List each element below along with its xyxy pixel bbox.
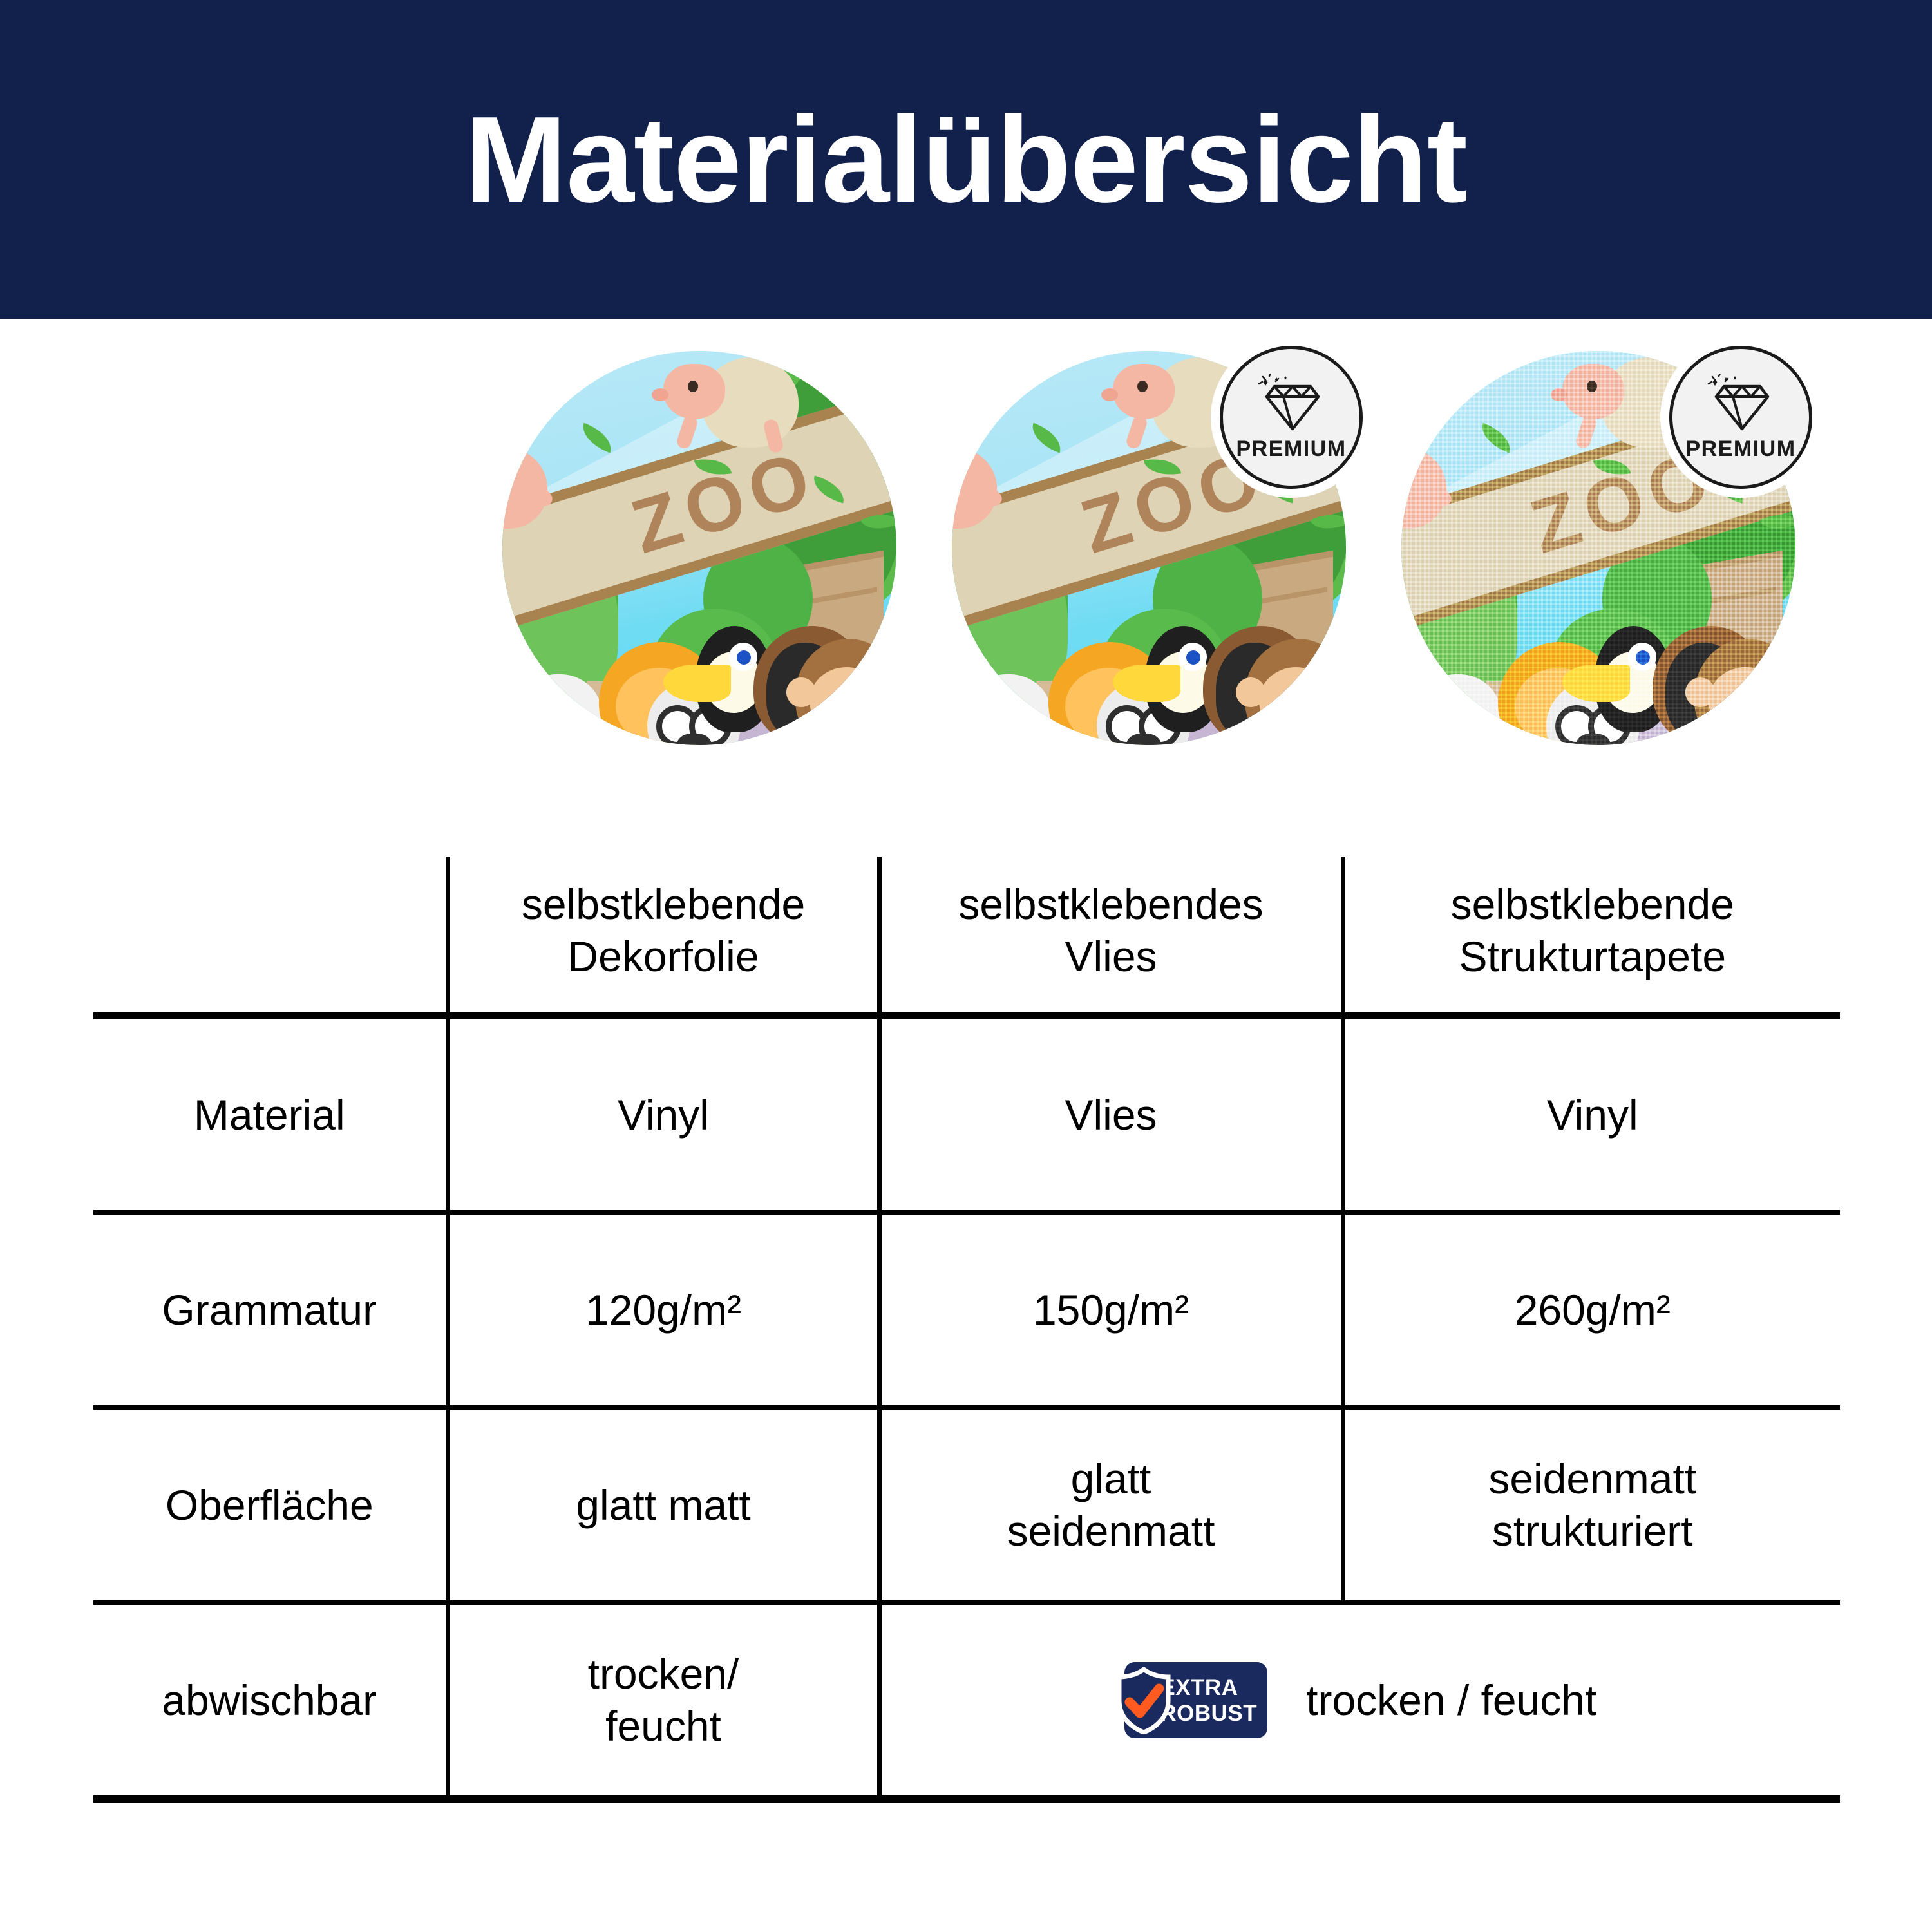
row-label-oberflaeche: Oberfläche [93, 1408, 448, 1603]
header-cell-dekorfolie: selbstklebende Dekorfolie [448, 857, 879, 1016]
cell-grammatur-dekorfolie: 120g/m² [448, 1213, 879, 1408]
table-header-row: selbstklebende Dekorfolie selbstklebende… [93, 857, 1840, 1016]
monkey-figure [795, 639, 896, 745]
cell-material-strukturtapete: Vinyl [1343, 1016, 1840, 1213]
table-row: Grammatur 120g/m² 150g/m² 260g/m² [93, 1213, 1840, 1408]
premium-badge: PREMIUM [1669, 346, 1812, 489]
product-preview-strukturtapete[interactable]: ZOO [1401, 351, 1795, 745]
cell-abwischbar-merged-text: trocken / feucht [1306, 1674, 1596, 1727]
diamond-icon [1706, 374, 1776, 433]
row-label-abwischbar: abwischbar [93, 1603, 448, 1799]
cell-material-dekorfolie: Vinyl [448, 1016, 879, 1213]
cell-abwischbar-merged: EXTRA ROBUST trocken / feucht [879, 1603, 1840, 1799]
page-title: Materialübersicht [465, 99, 1467, 221]
zebra-figure [965, 674, 1052, 745]
monkey-figure [1245, 639, 1346, 745]
cell-abwischbar-dekorfolie: trocken/ feucht [448, 1603, 879, 1799]
header-cell-empty [93, 857, 448, 1016]
zebra-figure [515, 674, 602, 745]
animal-cluster [952, 578, 1346, 745]
material-overview-page: Materialübersicht ZOO [0, 0, 1932, 1932]
cell-grammatur-strukturtapete: 260g/m² [1343, 1213, 1840, 1408]
product-preview-dekorfolie[interactable]: ZOO [502, 351, 896, 745]
premium-badge: PREMIUM [1220, 346, 1363, 489]
diamond-icon [1256, 374, 1326, 433]
row-label-material: Material [93, 1016, 448, 1213]
animal-cluster [1401, 578, 1795, 745]
cell-oberflaeche-strukturtapete: seidenmatt strukturiert [1343, 1408, 1840, 1603]
header-cell-strukturtapete: selbstklebende Strukturtapete [1343, 857, 1840, 1016]
premium-badge-label: PREMIUM [1685, 437, 1795, 462]
shield-check-icon [1114, 1667, 1173, 1734]
extra-robust-badge: EXTRA ROBUST [1124, 1662, 1267, 1738]
cell-oberflaeche-dekorfolie: glatt matt [448, 1408, 879, 1603]
preview-image-1: ZOO [502, 351, 896, 745]
product-preview-row: ZOO [0, 351, 1932, 763]
table-row: abwischbar trocken/ feucht [93, 1603, 1840, 1799]
zebra-figure [1414, 674, 1501, 745]
material-spec-table: selbstklebende Dekorfolie selbstklebende… [93, 857, 1840, 1803]
cell-oberflaeche-vlies: glatt seidenmatt [879, 1408, 1343, 1603]
table-row: Material Vinyl Vlies Vinyl [93, 1016, 1840, 1213]
page-header: Materialübersicht [0, 0, 1932, 319]
table-row: Oberfläche glatt matt glatt seidenmatt s… [93, 1408, 1840, 1603]
cell-grammatur-vlies: 150g/m² [879, 1213, 1343, 1408]
row-label-grammatur: Grammatur [93, 1213, 448, 1408]
product-preview-vlies[interactable]: ZOO [952, 351, 1346, 745]
monkey-figure [1694, 639, 1795, 745]
premium-badge-label: PREMIUM [1236, 437, 1346, 462]
animal-cluster [502, 578, 896, 745]
cell-material-vlies: Vlies [879, 1016, 1343, 1213]
extra-robust-text: EXTRA ROBUST [1160, 1676, 1257, 1725]
header-cell-vlies: selbstklebendes Vlies [879, 857, 1343, 1016]
